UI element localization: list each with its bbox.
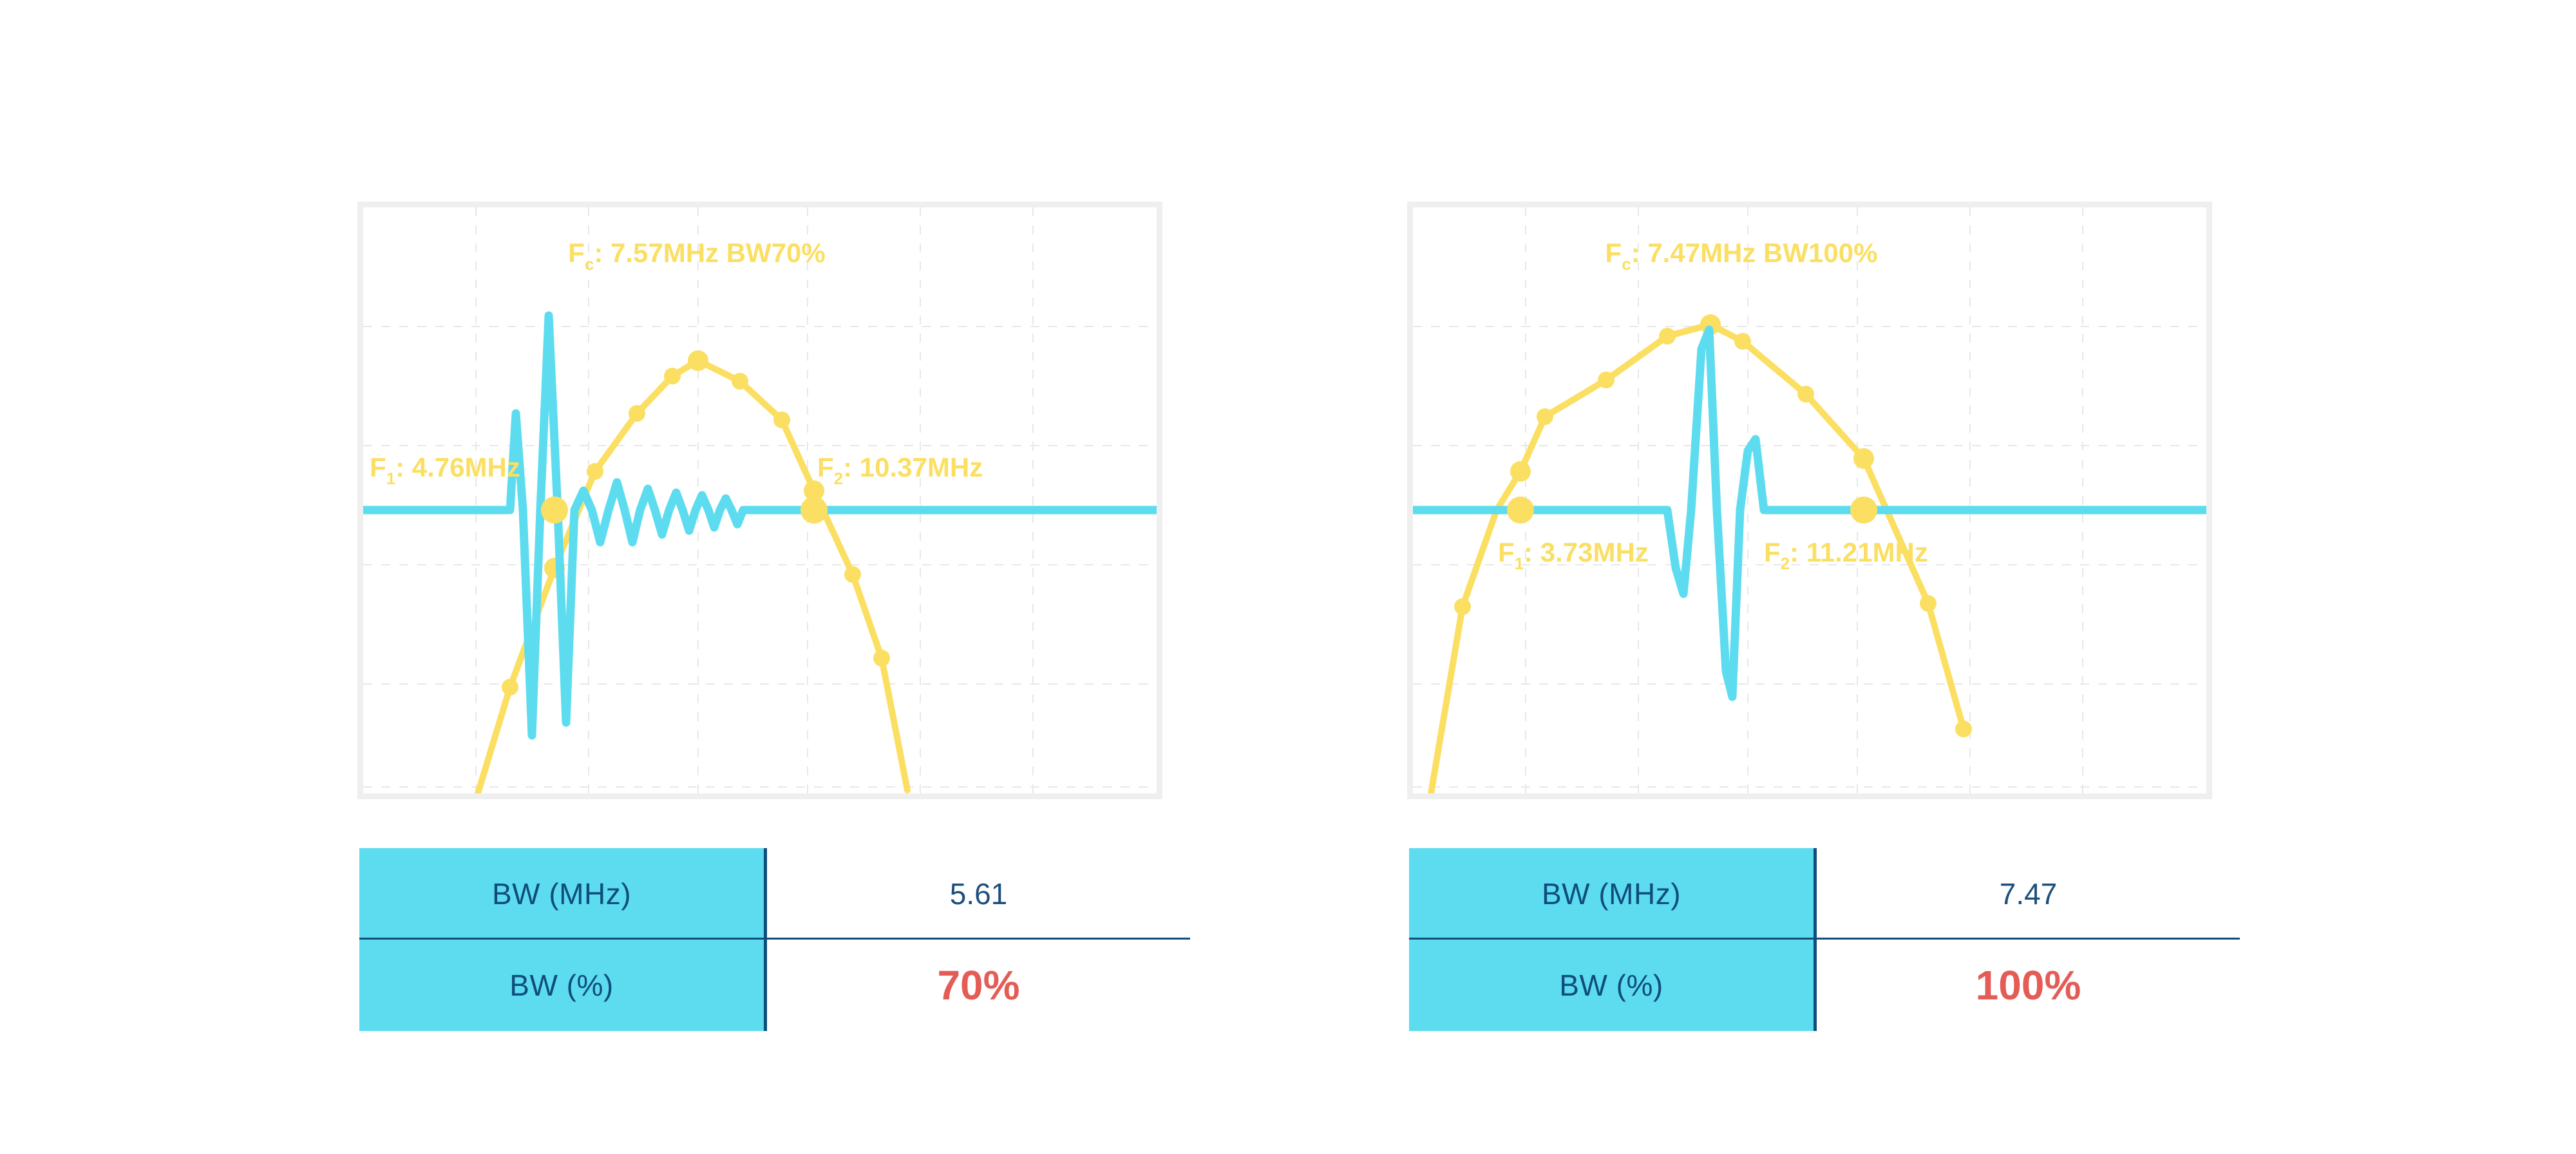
bw-mhz-value-bw100: 7.47	[2000, 876, 2058, 911]
bw-mhz-label-bw70: BW (MHz)	[492, 876, 631, 911]
chart-bw70: Fc: 7.57MHz BW70% F1: 4.76MHz F2: 10.37M…	[363, 207, 1157, 793]
bw-mhz-value-bw70: 5.61	[950, 876, 1008, 911]
table-row: BW (%) 100%	[1409, 940, 2240, 1031]
table-row: BW (MHz) 7.47	[1409, 848, 2240, 940]
chart-bw100: Fc: 7.47MHz BW100% F1: 3.73MHz F2: 11.21…	[1413, 207, 2206, 793]
bw-pct-label-cell-bw100: BW (%)	[1409, 940, 1817, 1031]
bw-pct-label-bw100: BW (%)	[1559, 968, 1663, 1003]
bw-pct-value-cell-bw100: 100%	[1817, 940, 2240, 1031]
bw-mhz-label-cell-bw70: BW (MHz)	[359, 848, 767, 940]
f1-text-bw100: : 3.73MHz	[1524, 537, 1649, 567]
pulse-waveform-bw70	[363, 316, 1157, 735]
svg-text:F2: 11.21MHz: F2: 11.21MHz	[1764, 537, 1928, 573]
f1-subscript-bw70: 1	[386, 469, 395, 488]
svg-text:F1: 4.76MHz: F1: 4.76MHz	[370, 452, 520, 488]
bw-mhz-label-cell-bw100: BW (MHz)	[1409, 848, 1817, 940]
bw-mhz-value-cell-bw100: 7.47	[1817, 848, 2240, 940]
chart-frame-bw70: Fc: 7.57MHz BW70% F1: 4.76MHz F2: 10.37M…	[357, 202, 1162, 799]
annotation-center-bw70: Fc: 7.57MHz BW70%	[568, 238, 826, 274]
f1-subscript-bw100: 1	[1515, 554, 1524, 573]
bw-pct-label-bw70: BW (%)	[509, 968, 613, 1003]
marker-f1-bw70	[541, 497, 568, 524]
fc-text-bw100: : 7.47MHz BW100%	[1631, 238, 1878, 268]
fc-subscript-bw100: c	[1622, 254, 1631, 274]
bw-table-bw100: BW (MHz) 7.47 BW (%) 100%	[1409, 848, 2240, 1032]
chart-grid-bw100	[1413, 207, 2206, 793]
f2-symbol-bw70: F	[817, 452, 834, 482]
annotation-f2-bw70: F2: 10.37MHz	[817, 452, 983, 488]
chart-frame-bw100: Fc: 7.47MHz BW100% F1: 3.73MHz F2: 11.21…	[1407, 202, 2212, 799]
annotation-center-bw100: Fc: 7.47MHz BW100%	[1605, 238, 1878, 274]
marker-f2-bw100	[1850, 497, 1877, 524]
annotation-f1-bw100: F1: 3.73MHz	[1498, 537, 1649, 573]
f2-subscript-bw100: 2	[1781, 554, 1790, 573]
fc-symbol-bw100: F	[1605, 238, 1622, 268]
marker-f1-bw100	[1507, 497, 1534, 524]
marker-f2-bw70	[800, 497, 828, 524]
f1-text-bw70: : 4.76MHz	[395, 452, 520, 482]
svg-text:Fc: 7.57MHz BW70%: Fc: 7.57MHz BW70%	[568, 238, 826, 274]
panel-bw100: Fc: 7.47MHz BW100% F1: 3.73MHz F2: 11.21…	[1050, 0, 2338, 1154]
bw-mhz-label-bw100: BW (MHz)	[1542, 876, 1681, 911]
f2-subscript-bw70: 2	[834, 469, 843, 488]
bw-pct-value-bw70: 70%	[937, 961, 1019, 1009]
svg-text:F1: 3.73MHz: F1: 3.73MHz	[1498, 537, 1649, 573]
f2-text-bw70: : 10.37MHz	[843, 452, 983, 482]
f1-symbol-bw100: F	[1498, 537, 1515, 567]
annotation-f2-bw100: F2: 11.21MHz	[1764, 537, 1928, 573]
f2-text-bw100: : 11.21MHz	[1790, 537, 1928, 567]
f2-symbol-bw100: F	[1764, 537, 1781, 567]
bw-pct-value-bw100: 100%	[1976, 961, 2081, 1009]
fc-text-bw70: : 7.57MHz BW70%	[594, 238, 825, 268]
bw-pct-label-cell-bw70: BW (%)	[359, 940, 767, 1031]
annotation-f1-bw70: F1: 4.76MHz	[370, 452, 520, 488]
chart-grid-bw70	[363, 207, 1157, 793]
fc-symbol-bw70: F	[568, 238, 585, 268]
figure-root: Fc: 7.57MHz BW70% F1: 4.76MHz F2: 10.37M…	[0, 0, 2576, 1154]
fc-subscript-bw70: c	[585, 254, 594, 274]
f1-symbol-bw70: F	[370, 452, 386, 482]
svg-text:F2: 10.37MHz: F2: 10.37MHz	[817, 452, 983, 488]
svg-text:Fc: 7.47MHz BW100%: Fc: 7.47MHz BW100%	[1605, 238, 1878, 274]
